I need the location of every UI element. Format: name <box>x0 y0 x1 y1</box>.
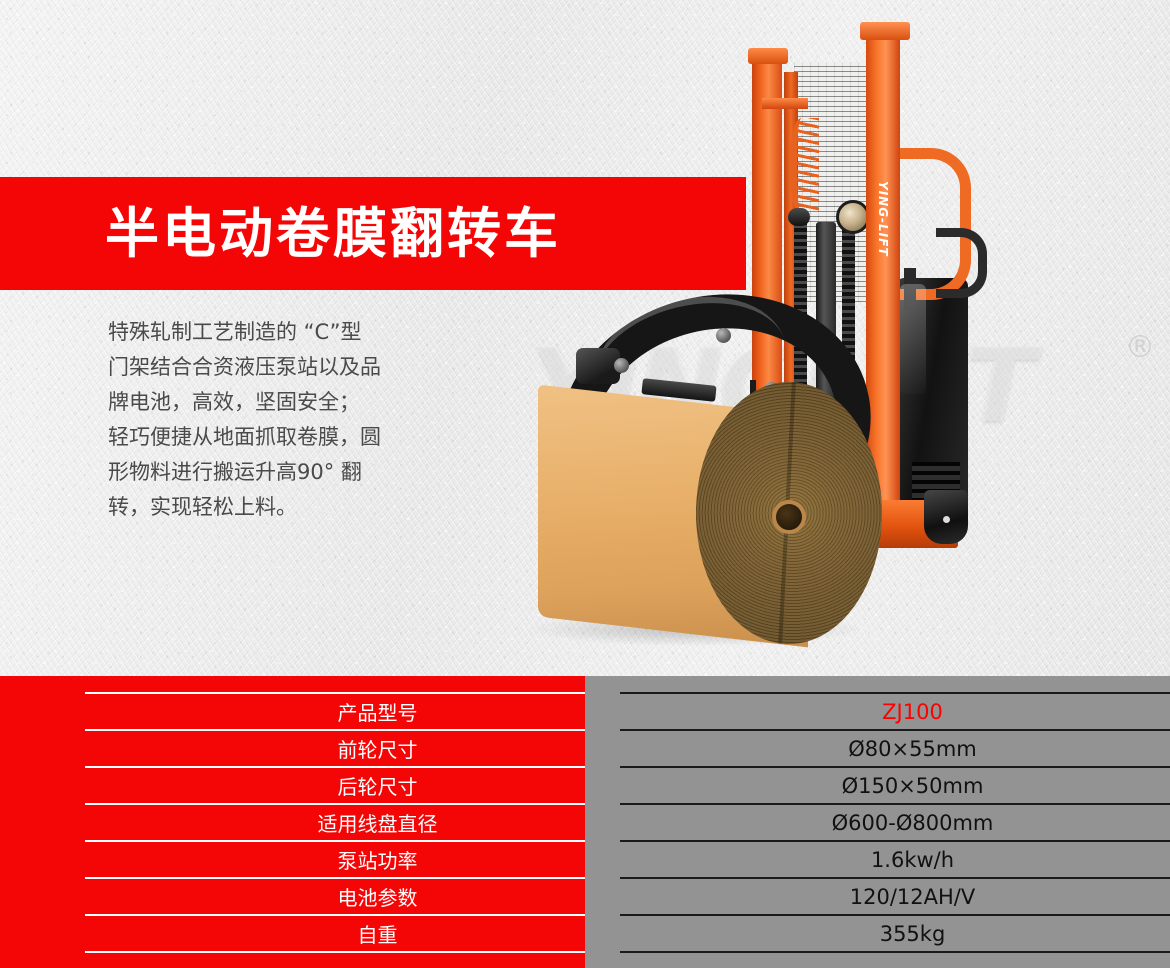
mast-cap-right <box>860 22 910 40</box>
product-detail-page: YINGLIFT ® YING-LIFT <box>0 0 1170 968</box>
spec-value: 120/12AH/V <box>620 877 1170 914</box>
product-description: 特殊轧制工艺制造的 “C”型 门架结合合资液压泵站以及品 牌电池，高效，坚固安全… <box>108 315 458 525</box>
product-photo: YINGLIFT ® YING-LIFT <box>500 0 1170 676</box>
spec-value: Ø600-Ø800mm <box>620 803 1170 840</box>
caster-wheel-hub <box>943 516 950 523</box>
hydraulic-hose-coil <box>790 118 819 214</box>
spec-label: 自重 <box>85 914 670 953</box>
page-title: 半电动卷膜翻转车 <box>105 207 561 261</box>
operator-handle-grip <box>936 228 987 298</box>
spec-label: 后轮尺寸 <box>85 766 670 803</box>
mast-brand-label: YING-LIFT <box>868 175 898 263</box>
spec-label: 泵站功率 <box>85 840 670 877</box>
chain-roller-pin <box>788 208 810 226</box>
spec-value-column: ZJ100 Ø80×55mm Ø150×50mm Ø600-Ø800mm 1.6… <box>585 676 1170 968</box>
mast-cap-left <box>748 48 788 64</box>
spec-value: Ø150×50mm <box>620 766 1170 803</box>
spec-value: Ø80×55mm <box>620 729 1170 766</box>
specification-table: 产品型号 前轮尺寸 后轮尺寸 适用线盘直径 泵站功率 电池参数 自重 ZJ100… <box>0 676 1170 968</box>
clamp-bolt-icon <box>716 328 731 343</box>
description-line: 门架结合合资液压泵站以及品 <box>108 350 458 385</box>
spec-value: 355kg <box>620 914 1170 953</box>
paper-roll-core-hole <box>772 500 806 534</box>
description-line: 形物料进行搬运升高90° 翻 <box>108 455 458 490</box>
description-line: 轻巧便捷从地面抓取卷膜，圆 <box>108 420 458 455</box>
clamp-bolt-icon <box>614 358 629 373</box>
registered-trademark-icon: ® <box>1125 330 1155 365</box>
description-line: 牌电池，高效，坚固安全； <box>108 385 458 420</box>
spec-value: 1.6kw/h <box>620 840 1170 877</box>
spec-label: 前轮尺寸 <box>85 729 670 766</box>
spec-label: 电池参数 <box>85 877 670 914</box>
battery-housing-highlight <box>900 284 926 394</box>
spec-label: 产品型号 <box>85 692 670 729</box>
spec-label-column: 产品型号 前轮尺寸 后轮尺寸 适用线盘直径 泵站功率 电池参数 自重 <box>0 676 585 968</box>
chain-sprocket <box>836 200 870 234</box>
mast-crossbar <box>762 98 808 109</box>
spec-value-model: ZJ100 <box>620 692 1170 729</box>
title-banner: 半电动卷膜翻转车 <box>0 177 746 290</box>
description-line: 特殊轧制工艺制造的 “C”型 <box>108 315 458 350</box>
description-line: 转，实现轻松上料。 <box>108 490 458 525</box>
spec-label: 适用线盘直径 <box>85 803 670 840</box>
